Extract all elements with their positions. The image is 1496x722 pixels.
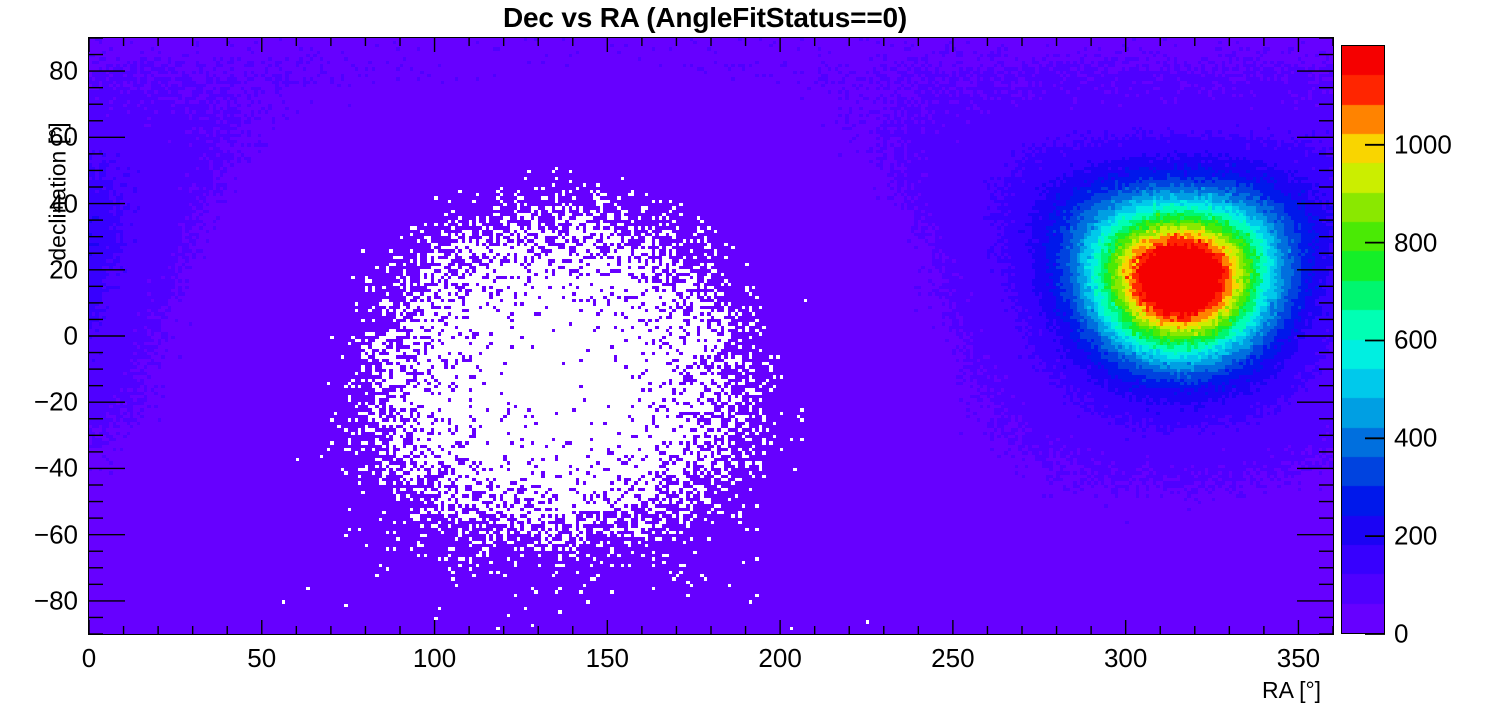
x-tick-label: 100	[413, 643, 456, 674]
y-axis-title: declination [°]	[45, 82, 72, 302]
y-tick-label: −20	[0, 387, 78, 418]
x-tick-label: 0	[82, 643, 96, 674]
root-plot-canvas: Dec vs RA (AngleFitStatus==0) −80−60−40−…	[0, 0, 1496, 722]
x-tick-label: 200	[758, 643, 801, 674]
x-tick-label: 250	[931, 643, 974, 674]
plot-frame	[88, 37, 1334, 635]
colorbar	[1341, 45, 1385, 634]
colorbar-title: count	[1392, 0, 1419, 40]
y-tick-label: 0	[0, 321, 78, 352]
y-tick-label: −80	[0, 585, 78, 616]
x-axis-title: RA [°]	[1262, 677, 1321, 704]
page-title: Dec vs RA (AngleFitStatus==0)	[0, 2, 1410, 34]
colorbar-tick-label: 600	[1394, 325, 1437, 356]
colorbar-tick-label: 800	[1394, 227, 1437, 258]
y-tick-label: −60	[0, 519, 78, 550]
x-tick-label: 150	[586, 643, 629, 674]
x-tick-label: 350	[1277, 643, 1320, 674]
colorbar-tick-label: 200	[1394, 521, 1437, 552]
colorbar-tick-label: 1000	[1394, 129, 1452, 160]
colorbar-gradient	[1342, 46, 1384, 633]
y-tick-label: −40	[0, 453, 78, 484]
histogram-canvas	[89, 38, 1333, 634]
colorbar-tick-label: 0	[1394, 619, 1408, 650]
x-tick-label: 300	[1104, 643, 1147, 674]
x-tick-label: 50	[247, 643, 276, 674]
colorbar-tick-label: 400	[1394, 423, 1437, 454]
